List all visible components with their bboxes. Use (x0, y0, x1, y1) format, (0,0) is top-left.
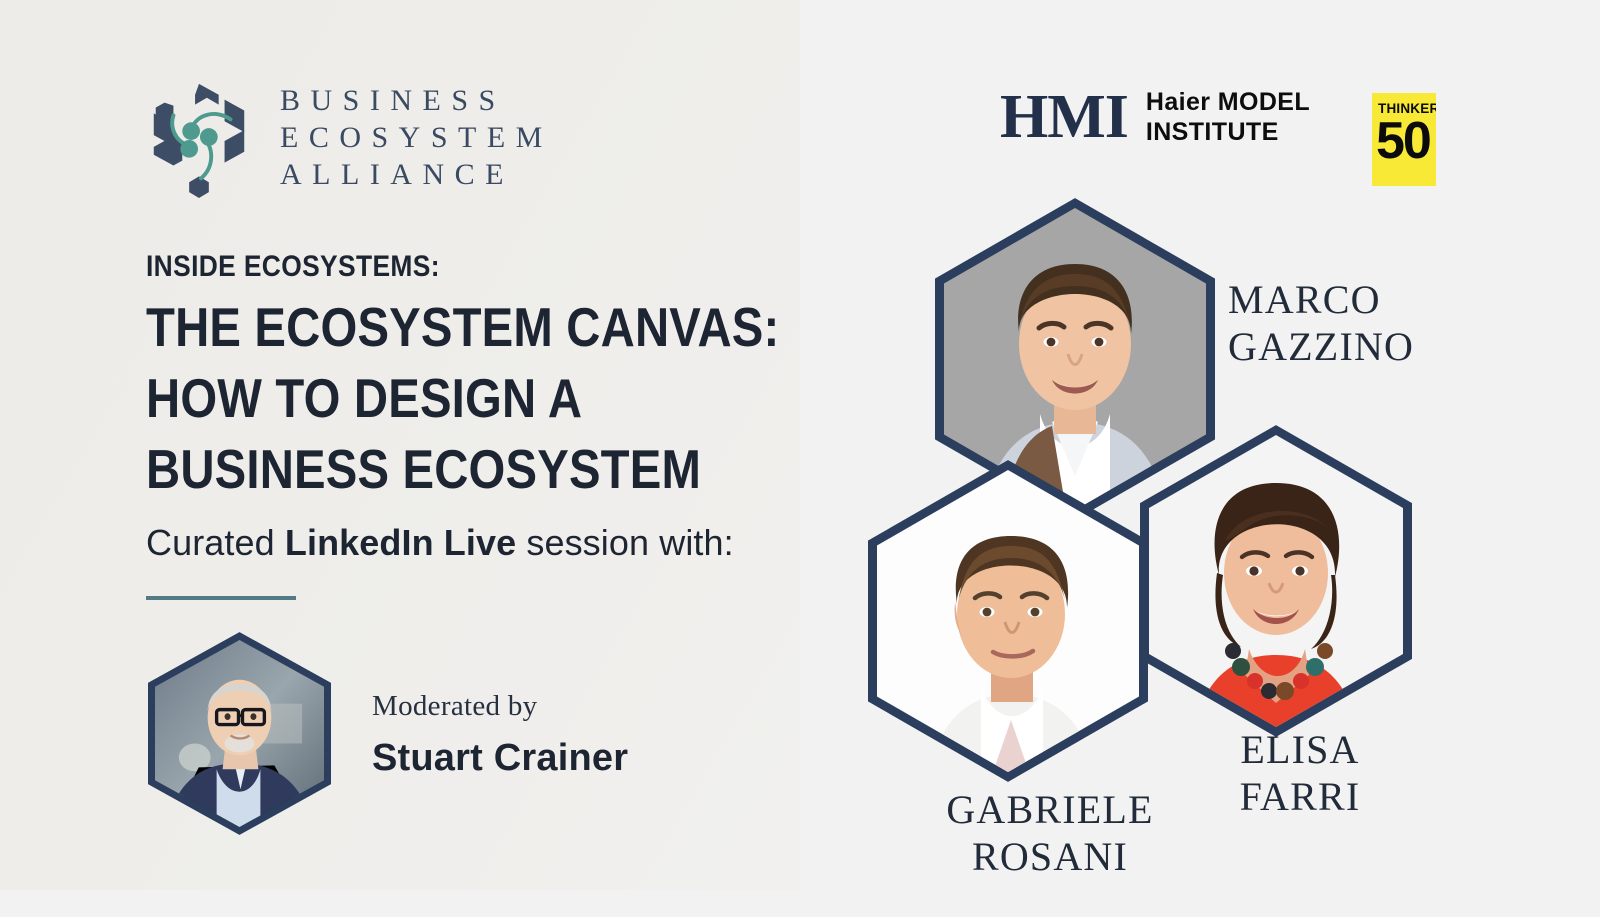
elisa-first-name: ELISA (1175, 726, 1425, 773)
hmi-name-line-1: Haier MODEL (1146, 87, 1310, 117)
bea-line-3: ALLIANCE (280, 156, 553, 193)
subtitle-suffix: session with: (516, 522, 734, 563)
bea-line-1: BUSINESS (280, 82, 553, 119)
speaker-avatar-marco (935, 198, 1215, 520)
bea-hexagon-network-icon (140, 80, 258, 198)
hmi-logo: HMI Haier MODEL INSTITUTE (1000, 86, 1310, 148)
hmi-monogram: HMI (1000, 86, 1128, 148)
moderator-label: Moderated by (372, 690, 537, 723)
marco-last-name: GAZZINO (1228, 323, 1414, 370)
thinkers50-badge: THINKERS 50 (1372, 93, 1436, 186)
title-line-2: HOW TO DESIGN A (146, 363, 851, 434)
thinkers50-number: 50 (1376, 115, 1438, 167)
speaker-name-marco: MARCO GAZZINO (1228, 276, 1414, 370)
page-title: THE ECOSYSTEM CANVAS: HOW TO DESIGN A BU… (146, 292, 966, 505)
title-line-3: BUSINESS ECOSYSTEM (146, 434, 851, 505)
bea-line-2: ECOSYSTEM (280, 119, 553, 156)
speaker-avatar-gabriele (868, 460, 1148, 782)
session-subtitle: Curated LinkedIn Live session with: (146, 522, 734, 564)
hmi-name: Haier MODEL INSTITUTE (1146, 87, 1310, 147)
hmi-name-line-2: INSTITUTE (1146, 117, 1310, 147)
speaker-name-elisa: ELISA FARRI (1175, 726, 1425, 820)
bea-wordmark: BUSINESS ECOSYSTEM ALLIANCE (280, 82, 553, 193)
bea-logo: BUSINESS ECOSYSTEM ALLIANCE (140, 78, 560, 200)
subtitle-platform: LinkedIn Live (285, 522, 516, 563)
speaker-name-gabriele: GABRIELE ROSANI (905, 786, 1195, 880)
gabriele-first-name: GABRIELE (905, 786, 1195, 833)
moderator-name: Stuart Crainer (372, 737, 628, 780)
marco-first-name: MARCO (1228, 276, 1414, 323)
speaker-avatar-elisa (1140, 425, 1412, 737)
elisa-last-name: FARRI (1175, 773, 1425, 820)
eyebrow-text: INSIDE ECOSYSTEMS: (146, 250, 440, 284)
divider-rule (146, 596, 296, 600)
title-line-1: THE ECOSYSTEM CANVAS: (146, 292, 851, 363)
gabriele-last-name: ROSANI (905, 833, 1195, 880)
poster-canvas: BUSINESS ECOSYSTEM ALLIANCE HMI Haier MO… (0, 0, 1600, 917)
subtitle-prefix: Curated (146, 522, 285, 563)
